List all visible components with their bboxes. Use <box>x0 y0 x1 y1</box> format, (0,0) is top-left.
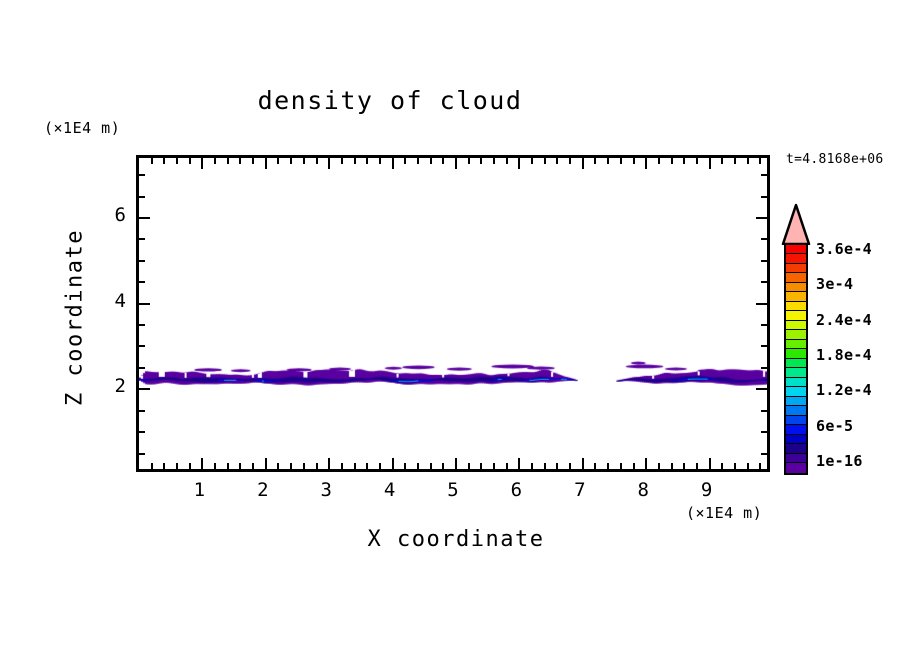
x-tick-top <box>239 158 241 164</box>
y-tick-right <box>756 388 767 390</box>
colorbar-cell <box>786 425 806 434</box>
x-tick-top <box>151 158 153 164</box>
x-tick <box>569 463 571 469</box>
colorbar-cell <box>786 292 806 301</box>
x-tick <box>201 458 203 469</box>
x-tick-label: 3 <box>306 479 346 501</box>
x-tick <box>468 463 470 469</box>
x-tick <box>556 463 558 469</box>
x-tick-top <box>379 158 381 164</box>
x-tick-top <box>201 158 203 169</box>
x-tick <box>506 463 508 469</box>
y-tick <box>139 260 145 262</box>
colorbar-cell <box>786 416 806 425</box>
x-tick-top <box>544 158 546 164</box>
colorbar-tick-label: 1e-16 <box>816 452 863 470</box>
y-tick-right <box>761 453 767 455</box>
x-tick-top <box>265 158 267 169</box>
y-tick <box>139 174 145 176</box>
x-tick-top <box>759 158 761 164</box>
x-tick-top <box>328 158 330 169</box>
x-tick <box>277 463 279 469</box>
x-tick <box>265 458 267 469</box>
x-tick-label: 5 <box>433 479 473 501</box>
x-tick <box>544 463 546 469</box>
x-tick <box>658 463 660 469</box>
colorbar-cell <box>786 359 806 368</box>
x-tick-top <box>430 158 432 164</box>
x-tick-top <box>189 158 191 164</box>
y-tick-right <box>756 303 767 305</box>
x-tick-top <box>569 158 571 164</box>
x-tick <box>354 463 356 469</box>
x-tick <box>239 463 241 469</box>
colorbar-cell <box>786 245 806 254</box>
x-tick-top <box>696 158 698 164</box>
x-tick <box>480 463 482 469</box>
y-tick-right <box>761 260 767 262</box>
figure-canvas: density of cloud (×1E4 m) (×1E4 m) t=4.8… <box>0 0 904 654</box>
x-tick <box>341 463 343 469</box>
x-tick <box>227 463 229 469</box>
x-tick-label: 8 <box>623 479 663 501</box>
x-tick <box>366 463 368 469</box>
x-tick-top <box>455 158 457 169</box>
y-tick <box>139 388 150 390</box>
y-tick <box>139 431 145 433</box>
x-tick-top <box>480 158 482 164</box>
x-tick <box>671 463 673 469</box>
x-tick <box>430 463 432 469</box>
x-tick-top <box>594 158 596 164</box>
x-tick <box>151 463 153 469</box>
x-tick-top <box>404 158 406 164</box>
colorbar-cell <box>786 340 806 349</box>
x-tick-label: 1 <box>179 479 219 501</box>
y-tick-right <box>761 431 767 433</box>
x-tick-top <box>556 158 558 164</box>
y-axis-unit-label: (×1E4 m) <box>44 119 120 137</box>
x-tick-top <box>214 158 216 164</box>
y-tick <box>139 303 150 305</box>
y-tick <box>139 324 145 326</box>
x-tick-top <box>721 158 723 164</box>
colorbar-cell <box>786 302 806 311</box>
x-tick <box>442 463 444 469</box>
x-tick-top <box>518 158 520 169</box>
x-tick-label: 6 <box>496 479 536 501</box>
x-tick-top <box>658 158 660 164</box>
colorbar-tick-label: 3e-4 <box>816 275 853 293</box>
x-tick <box>316 463 318 469</box>
y-tick <box>139 281 145 283</box>
x-tick <box>747 463 749 469</box>
x-tick <box>189 463 191 469</box>
x-tick <box>379 463 381 469</box>
y-tick <box>139 196 145 198</box>
x-tick <box>696 463 698 469</box>
x-tick <box>303 463 305 469</box>
x-tick-top <box>607 158 609 164</box>
x-tick-top <box>227 158 229 164</box>
x-tick <box>392 458 394 469</box>
colorbar-cell <box>786 254 806 263</box>
x-tick-top <box>316 158 318 164</box>
colorbar <box>784 243 808 475</box>
x-tick-label: 2 <box>243 479 283 501</box>
x-tick-top <box>468 158 470 164</box>
x-tick-top <box>582 158 584 169</box>
x-tick-top <box>442 158 444 164</box>
x-tick-top <box>645 158 647 169</box>
colorbar-cell <box>786 444 806 453</box>
x-axis-title: X coordinate <box>256 527 656 552</box>
y-tick <box>139 410 145 412</box>
colorbar-tick-label: 1.8e-4 <box>816 346 872 364</box>
time-annotation: t=4.8168e+06 <box>786 152 884 167</box>
colorbar-tick-label: 3.6e-4 <box>816 240 872 258</box>
x-tick <box>176 463 178 469</box>
x-tick <box>518 458 520 469</box>
colorbar-cell <box>786 406 806 415</box>
y-tick-right <box>761 367 767 369</box>
x-tick-top <box>277 158 279 164</box>
x-tick-top <box>531 158 533 164</box>
x-tick-top <box>176 158 178 164</box>
colorbar-tick-label: 2.4e-4 <box>816 311 872 329</box>
colorbar-cell <box>786 463 806 472</box>
y-tick-right <box>761 196 767 198</box>
x-tick <box>404 463 406 469</box>
x-tick-label: 4 <box>370 479 410 501</box>
x-tick-label: 7 <box>560 479 600 501</box>
page-title: density of cloud <box>0 86 780 115</box>
y-tick-right <box>761 345 767 347</box>
y-tick-right <box>756 217 767 219</box>
colorbar-cell <box>786 387 806 396</box>
x-tick-top <box>366 158 368 164</box>
x-tick <box>214 463 216 469</box>
x-tick-top <box>303 158 305 164</box>
x-tick <box>633 463 635 469</box>
y-tick-label: 6 <box>86 204 126 226</box>
y-tick <box>139 345 145 347</box>
colorbar-cell <box>786 435 806 444</box>
x-tick <box>620 463 622 469</box>
x-tick-top <box>709 158 711 169</box>
x-tick-top <box>417 158 419 164</box>
colorbar-cell <box>786 264 806 273</box>
x-tick-top <box>747 158 749 164</box>
x-tick <box>594 463 596 469</box>
x-tick-top <box>354 158 356 164</box>
x-tick <box>607 463 609 469</box>
x-tick-top <box>341 158 343 164</box>
x-tick-top <box>290 158 292 164</box>
y-axis-title: Z coordinate <box>63 198 88 438</box>
x-tick <box>645 458 647 469</box>
y-tick <box>139 238 145 240</box>
x-axis-unit-label: (×1E4 m) <box>686 504 762 522</box>
x-tick-top <box>392 158 394 169</box>
colorbar-cell <box>786 283 806 292</box>
y-tick-label: 2 <box>86 375 126 397</box>
x-tick <box>290 463 292 469</box>
x-tick <box>252 463 254 469</box>
x-tick-top <box>252 158 254 164</box>
y-tick-label: 4 <box>86 290 126 312</box>
y-tick-right <box>761 281 767 283</box>
colorbar-cell <box>786 321 806 330</box>
x-tick <box>582 458 584 469</box>
x-tick <box>493 463 495 469</box>
colorbar-cell <box>786 311 806 320</box>
colorbar-cell <box>786 378 806 387</box>
y-tick <box>139 217 150 219</box>
x-tick <box>734 463 736 469</box>
colorbar-cell <box>786 454 806 463</box>
x-tick <box>163 463 165 469</box>
x-tick <box>455 458 457 469</box>
x-tick-top <box>671 158 673 164</box>
x-tick-label: 9 <box>687 479 727 501</box>
x-tick-top <box>633 158 635 164</box>
x-tick <box>328 458 330 469</box>
colorbar-arrow-icon <box>780 203 812 245</box>
y-tick <box>139 453 145 455</box>
x-tick-top <box>620 158 622 164</box>
x-tick <box>683 463 685 469</box>
x-tick-top <box>683 158 685 164</box>
x-tick <box>759 463 761 469</box>
cloud-density-field <box>139 158 767 469</box>
colorbar-cell <box>786 397 806 406</box>
x-tick <box>721 463 723 469</box>
y-tick <box>139 367 145 369</box>
x-tick <box>417 463 419 469</box>
x-tick-top <box>493 158 495 164</box>
y-tick-right <box>761 410 767 412</box>
plot-area <box>136 155 770 472</box>
colorbar-tick-label: 6e-5 <box>816 417 853 435</box>
colorbar-tick-label: 1.2e-4 <box>816 381 872 399</box>
x-tick-top <box>506 158 508 164</box>
x-tick <box>709 458 711 469</box>
colorbar-cell <box>786 330 806 339</box>
colorbar-cell <box>786 349 806 358</box>
x-tick-top <box>163 158 165 164</box>
y-tick-right <box>761 174 767 176</box>
colorbar-cell <box>786 368 806 377</box>
y-tick-right <box>761 238 767 240</box>
x-tick-top <box>734 158 736 164</box>
x-tick <box>531 463 533 469</box>
colorbar-cell <box>786 273 806 282</box>
y-tick-right <box>761 324 767 326</box>
